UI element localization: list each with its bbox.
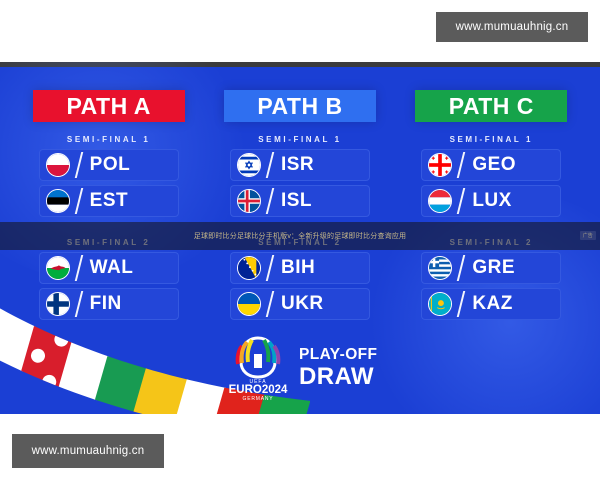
- team-row[interactable]: ISL: [230, 185, 370, 217]
- team-row[interactable]: GEO: [421, 149, 561, 181]
- path-a-title: PATH A: [66, 93, 150, 120]
- team-code: UKR: [281, 293, 324, 315]
- team-row[interactable]: BIH: [230, 252, 370, 284]
- wales-flag: [46, 256, 70, 280]
- team-row[interactable]: KAZ: [421, 288, 561, 320]
- israel-flag: [237, 153, 261, 177]
- iceland-flag: [237, 189, 261, 213]
- euro2024-label: EURO2024: [229, 384, 288, 396]
- divider-slash: [266, 291, 274, 317]
- watermark-bottom: www.mumuauhnig.cn: [12, 434, 164, 468]
- advertisement-text: 足球即时比分足球比分手机版v：全新升级的足球即时比分查询应用: [194, 231, 407, 241]
- team-code: FIN: [90, 293, 122, 315]
- estonia-flag: [46, 189, 70, 213]
- team-code: LUX: [472, 190, 512, 212]
- germany-label: GERMANY: [243, 396, 274, 402]
- team-code: WAL: [90, 257, 134, 279]
- path-c-semifinal-1-label: SEMI-FINAL 1: [450, 135, 534, 144]
- team-row[interactable]: POL: [39, 149, 179, 181]
- team-row[interactable]: FIN: [39, 288, 179, 320]
- team-code: KAZ: [472, 293, 513, 315]
- team-row[interactable]: LUX: [421, 185, 561, 217]
- divider-slash: [74, 291, 82, 317]
- greece-flag: [428, 256, 452, 280]
- watermark-top: www.mumuauhnig.cn: [436, 12, 588, 42]
- divider-slash: [74, 255, 82, 281]
- team-row[interactable]: EST: [39, 185, 179, 217]
- path-a-banner: PATH A: [33, 90, 185, 122]
- divider-slash: [457, 152, 465, 178]
- playoff-line-1: PLAY-OFF: [299, 347, 377, 363]
- path-b-title: PATH B: [257, 93, 342, 120]
- advertisement-badge: 广告: [580, 231, 596, 240]
- team-row[interactable]: ISR: [230, 149, 370, 181]
- ukraine-flag: [237, 292, 261, 316]
- team-code: POL: [90, 154, 131, 176]
- team-code: ISL: [281, 190, 312, 212]
- path-c-banner: PATH C: [415, 90, 567, 122]
- team-code: BIH: [281, 257, 315, 279]
- team-row[interactable]: GRE: [421, 252, 561, 284]
- euro2024-logo-icon: UEFA EURO2024 GERMANY: [228, 334, 288, 402]
- playoff-draw-title: PLAY-OFF DRAW: [299, 347, 377, 389]
- team-code: EST: [90, 190, 128, 212]
- divider-slash: [457, 188, 465, 214]
- path-b-semifinal-1-label: SEMI-FINAL 1: [258, 135, 342, 144]
- divider-slash: [457, 291, 465, 317]
- advertisement-overlay-band[interactable]: 足球即时比分足球比分手机版v：全新升级的足球即时比分查询应用 广告: [0, 222, 600, 250]
- divider-slash: [74, 152, 82, 178]
- divider-slash: [74, 188, 82, 214]
- georgia-flag: [428, 153, 452, 177]
- divider-slash: [457, 255, 465, 281]
- divider-slash: [266, 255, 274, 281]
- kazakhstan-flag: [428, 292, 452, 316]
- team-code: GRE: [472, 257, 515, 279]
- path-c-title: PATH C: [449, 93, 534, 120]
- divider-slash: [266, 188, 274, 214]
- team-row[interactable]: WAL: [39, 252, 179, 284]
- divider-slash: [266, 152, 274, 178]
- team-code: GEO: [472, 154, 516, 176]
- poster-footer: UEFA EURO2024 GERMANY PLAY-OFF DRAW: [228, 334, 377, 402]
- watermark-top-text: www.mumuauhnig.cn: [456, 21, 569, 33]
- bosnia-flag: [237, 256, 261, 280]
- poland-flag: [46, 153, 70, 177]
- luxembourg-flag: [428, 189, 452, 213]
- team-code: ISR: [281, 154, 314, 176]
- path-column-a: PATH A SEMI-FINAL 1 POL EST SEMI-FINAL 2: [18, 90, 199, 414]
- finland-flag: [46, 292, 70, 316]
- playoff-line-2: DRAW: [299, 365, 377, 389]
- path-b-banner: PATH B: [224, 90, 376, 122]
- watermark-bottom-text: www.mumuauhnig.cn: [32, 445, 145, 457]
- path-column-c: PATH C SEMI-FINAL 1 GEO LUX SEMI-FINAL 2: [401, 90, 582, 414]
- team-row[interactable]: UKR: [230, 288, 370, 320]
- path-a-semifinal-1-label: SEMI-FINAL 1: [67, 135, 151, 144]
